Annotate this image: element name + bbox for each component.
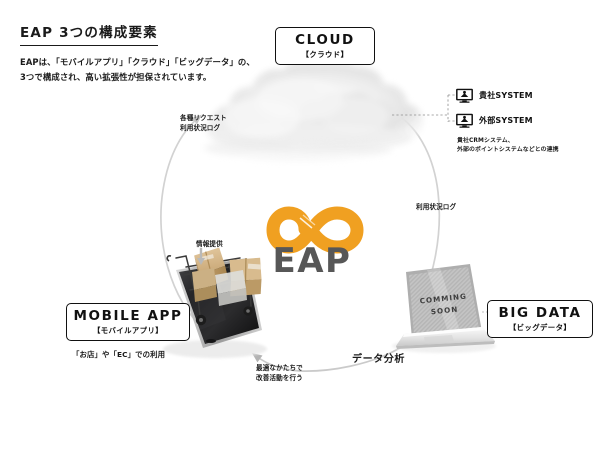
caption-information-provision: 情報提供 bbox=[196, 239, 223, 249]
header-description: EAPは、「モバイルアプリ」「クラウド」「ビッグデータ」の、 3つで構成され、高… bbox=[20, 55, 270, 84]
info-provision-arrow bbox=[196, 248, 206, 266]
eap-logo-text: EAP bbox=[273, 241, 352, 281]
caption-requests-line2: 利用状況ログ bbox=[180, 123, 227, 133]
header: EAP 3つの構成要素 EAPは、「モバイルアプリ」「クラウド」「ビッグデータ」… bbox=[20, 22, 270, 85]
caption-improvement: 最適なかたちで 改善活動を行う bbox=[256, 363, 303, 383]
caption-improvement-line1: 最適なかたちで bbox=[256, 363, 303, 373]
caption-mobile-usage: 「お店」や「EC」での利用 bbox=[72, 349, 165, 360]
eap-logo: EAP bbox=[273, 213, 357, 281]
label-box-mobile-app-en: MOBILE APP bbox=[73, 309, 183, 323]
label-box-cloud[interactable]: CLOUD 【クラウド】 bbox=[275, 27, 375, 65]
header-description-line2: 3つで構成され、高い拡張性が担保されています。 bbox=[20, 70, 270, 85]
label-box-cloud-en: CLOUD bbox=[282, 33, 368, 47]
label-box-big-data[interactable]: BIG DATA 【ビッグデータ】 bbox=[487, 300, 593, 338]
label-box-big-data-jp: 【ビッグデータ】 bbox=[494, 322, 586, 333]
caption-mobile-usage-text: 「お店」や「EC」での利用 bbox=[72, 349, 165, 360]
caption-data-analysis: データ分析 bbox=[352, 352, 405, 368]
caption-requests: 各種リクエスト 利用状況ログ bbox=[180, 113, 227, 133]
label-box-big-data-en: BIG DATA bbox=[494, 306, 586, 320]
caption-usage-log-text: 利用状況ログ bbox=[416, 202, 456, 212]
monitor-icon bbox=[455, 113, 474, 128]
caption-crm-note-line2: 外部のポイントシステムなどとの連携 bbox=[457, 146, 559, 155]
caption-information-provision-text: 情報提供 bbox=[196, 239, 223, 249]
system-row-company[interactable]: 貴社SYSTEM bbox=[455, 88, 533, 103]
system-row-external-label: 外部SYSTEM bbox=[479, 115, 533, 126]
header-description-line1: EAPは、「モバイルアプリ」「クラウド」「ビッグデータ」の、 bbox=[20, 55, 270, 70]
page-title: EAP 3つの構成要素 bbox=[20, 25, 158, 46]
caption-usage-log: 利用状況ログ bbox=[416, 202, 456, 212]
system-row-company-label: 貴社SYSTEM bbox=[479, 90, 533, 101]
diagram-canvas: EAP COMMING SOON EAP 3つの構成要素 EAPは、「モバイルア… bbox=[0, 0, 600, 450]
caption-requests-line1: 各種リクエスト bbox=[180, 113, 227, 123]
label-box-mobile-app[interactable]: MOBILE APP 【モバイルアプリ】 bbox=[66, 303, 190, 341]
label-box-cloud-jp: 【クラウド】 bbox=[282, 49, 368, 60]
caption-crm-note-line1: 貴社CRMシステム、 bbox=[457, 137, 559, 146]
caption-data-analysis-text: データ分析 bbox=[352, 352, 405, 368]
caption-crm-note: 貴社CRMシステム、 外部のポイントシステムなどとの連携 bbox=[457, 137, 559, 156]
label-box-mobile-app-jp: 【モバイルアプリ】 bbox=[73, 325, 183, 336]
caption-improvement-line2: 改善活動を行う bbox=[256, 373, 303, 383]
monitor-icon bbox=[455, 88, 474, 103]
system-row-external[interactable]: 外部SYSTEM bbox=[455, 113, 533, 128]
